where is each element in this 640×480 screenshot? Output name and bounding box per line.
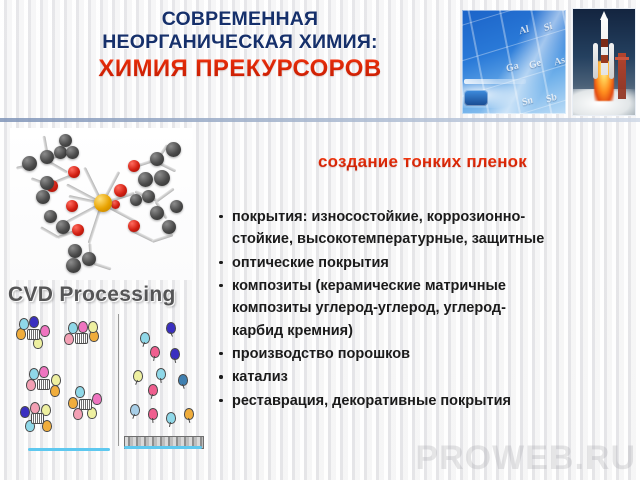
bullet-dot-icon xyxy=(219,215,223,219)
launch-tower xyxy=(618,53,626,99)
atom-oxygen xyxy=(128,160,140,172)
atom-carbon xyxy=(166,142,181,157)
atom-metal-center xyxy=(94,194,112,212)
bullet-dot-icon xyxy=(219,284,223,288)
substrate-baseline-left xyxy=(28,448,110,451)
rocket-booster-left xyxy=(593,43,598,79)
title-line-2: НЕОРГАНИЧЕСКАЯ ХИМИЯ: xyxy=(40,31,440,54)
list-item: композиты (керамические матричные композ… xyxy=(216,275,634,342)
precursor-molecule xyxy=(16,318,50,348)
header-image-group: Al Si Ga Ge As Sn Sb xyxy=(462,4,636,118)
atom-carbon xyxy=(44,210,57,223)
precursor-molecule xyxy=(26,368,60,398)
cvd-processing-label: CVD Processing xyxy=(8,283,198,307)
list-item-line: композиты (керамические матричные xyxy=(232,278,506,294)
atom-carbon xyxy=(68,244,82,258)
title-accent-line: ХИМИЯ ПРЕКУРСОРОВ xyxy=(40,55,440,83)
page-title: СОВРЕМЕННАЯ НЕОРГАНИЧЕСКАЯ ХИМИЯ: ХИМИЯ … xyxy=(40,8,440,83)
atom-carbon xyxy=(56,220,70,234)
precursor-molecule xyxy=(68,388,102,418)
fragment xyxy=(133,370,142,381)
header-divider xyxy=(0,118,640,122)
list-item-line: оптические покрытия xyxy=(232,255,389,271)
substrate-baseline-right xyxy=(124,446,202,449)
list-item-line: стойкие, высокотемпературные, защитные xyxy=(232,228,634,250)
fragment xyxy=(130,404,139,415)
atom-oxygen xyxy=(111,200,120,209)
fragment xyxy=(150,346,159,357)
atom-carbon xyxy=(22,156,37,171)
fragment xyxy=(166,322,175,333)
cvd-process-diagram xyxy=(6,312,211,474)
atom-oxygen xyxy=(114,184,127,197)
fragment xyxy=(166,412,175,423)
atom-oxygen xyxy=(68,166,80,178)
atom-oxygen xyxy=(72,224,84,236)
periodic-table-icon: Al Si Ga Ge As Sn Sb xyxy=(462,10,566,114)
atom-carbon xyxy=(59,134,72,147)
atom-carbon xyxy=(66,258,81,273)
list-item-line: катализ xyxy=(232,369,288,385)
title-line-1: СОВРЕМЕННАЯ xyxy=(40,8,440,31)
list-item: катализ xyxy=(216,366,634,388)
list-item-line: реставрация, декоративные покрытия xyxy=(232,393,511,409)
bullet-dot-icon xyxy=(219,399,223,403)
diagram-divider xyxy=(118,314,119,446)
feature-bullet-list: покрытия: износостойкие, коррозионно- ст… xyxy=(216,206,634,413)
atom-carbon xyxy=(40,150,54,164)
fragment xyxy=(148,384,157,395)
bullet-dot-icon xyxy=(219,261,223,265)
atom-carbon xyxy=(40,176,54,190)
atom-carbon xyxy=(150,152,164,166)
molecule-image xyxy=(10,128,193,280)
watermark: PROWEB.RU xyxy=(415,439,636,478)
precursor-molecule xyxy=(20,402,54,432)
atom-carbon xyxy=(162,220,176,234)
list-item: оптические покрытия xyxy=(216,252,634,274)
atom-carbon xyxy=(142,190,155,203)
section-subheading: создание тонких пленок xyxy=(215,152,630,172)
list-item-line: композиты углерод-углерод, углерод- xyxy=(232,297,634,319)
rocket-stripe-upper xyxy=(601,39,608,47)
fragment xyxy=(140,332,149,343)
rocket-launch-icon xyxy=(572,8,636,116)
atom-carbon xyxy=(36,190,50,204)
list-item-line: производство порошков xyxy=(232,346,410,362)
atom-carbon xyxy=(150,206,164,220)
list-item-line: карбид кремния) xyxy=(232,320,634,342)
list-item: покрытия: износостойкие, коррозионно- ст… xyxy=(216,206,634,251)
list-item-line: покрытия: износостойкие, коррозионно- xyxy=(232,209,525,225)
fragment xyxy=(156,368,165,379)
fragment xyxy=(170,348,179,359)
atom-carbon xyxy=(154,170,170,186)
atom-carbon xyxy=(138,172,153,187)
atom-oxygen xyxy=(128,220,140,232)
fragment xyxy=(184,408,193,419)
list-item: реставрация, декоративные покрытия xyxy=(216,390,634,412)
fragment xyxy=(178,374,187,385)
atom-carbon xyxy=(130,194,142,206)
list-item: производство порошков xyxy=(216,343,634,365)
fragment xyxy=(148,408,157,419)
atom-carbon xyxy=(66,146,79,159)
rocket-booster-right xyxy=(609,43,614,79)
periodic-knob xyxy=(464,90,488,106)
slide-canvas: СОВРЕМЕННАЯ НЕОРГАНИЧЕСКАЯ ХИМИЯ: ХИМИЯ … xyxy=(0,0,640,480)
bullet-dot-icon xyxy=(219,375,223,379)
atom-carbon xyxy=(82,252,96,266)
atom-carbon xyxy=(170,200,183,213)
bullet-dot-icon xyxy=(219,352,223,356)
rocket-stripe-lower xyxy=(601,55,608,63)
precursor-molecule xyxy=(64,322,98,352)
atom-oxygen xyxy=(66,200,78,212)
